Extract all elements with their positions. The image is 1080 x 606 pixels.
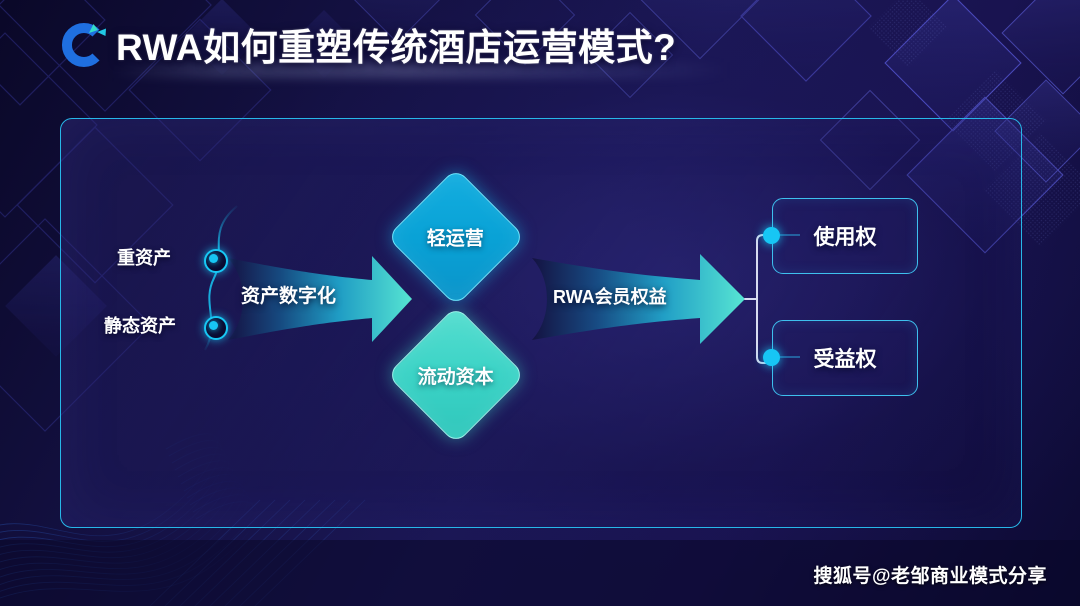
output-box-benefit-right: 受益权 (772, 320, 918, 396)
page-title: RWA如何重塑传统酒店运营模式? (116, 17, 676, 71)
node-dot-icon-heavy-asset (204, 249, 228, 273)
arrow-label-rwa-benefits: RWA会员权益 (553, 283, 667, 309)
diamond-label-light-operation: 轻运营 (427, 223, 484, 250)
input-label-heavy-asset: 重资产 (117, 244, 171, 270)
diagram-connectors (0, 0, 1080, 606)
output-box-usage-right: 使用权 (772, 198, 918, 274)
output-label-usage-right: 使用权 (814, 221, 877, 251)
slide-root: RWA如何重塑传统酒店运营模式? (0, 0, 1080, 606)
header: RWA如何重塑传统酒店运营模式? (0, 0, 1080, 88)
input-label-static-asset: 静态资产 (104, 312, 176, 338)
bracket-dot-icon-usage (763, 227, 780, 244)
flow-diagram: 重资产 静态资产 资产数字化 RWA会员权益 轻运营 流动资本 使用权 受益权 (0, 0, 1080, 606)
node-dot-icon-static-asset (204, 316, 228, 340)
output-label-benefit-right: 受益权 (814, 343, 877, 373)
arrow-label-digitization: 资产数字化 (241, 281, 336, 308)
c-arc-logo-icon (56, 19, 108, 71)
watermark: 搜狐号@老邹商业模式分享 (813, 561, 1047, 588)
diamond-label-liquid-capital: 流动资本 (418, 361, 494, 388)
bracket-dot-icon-benefit (763, 349, 780, 366)
